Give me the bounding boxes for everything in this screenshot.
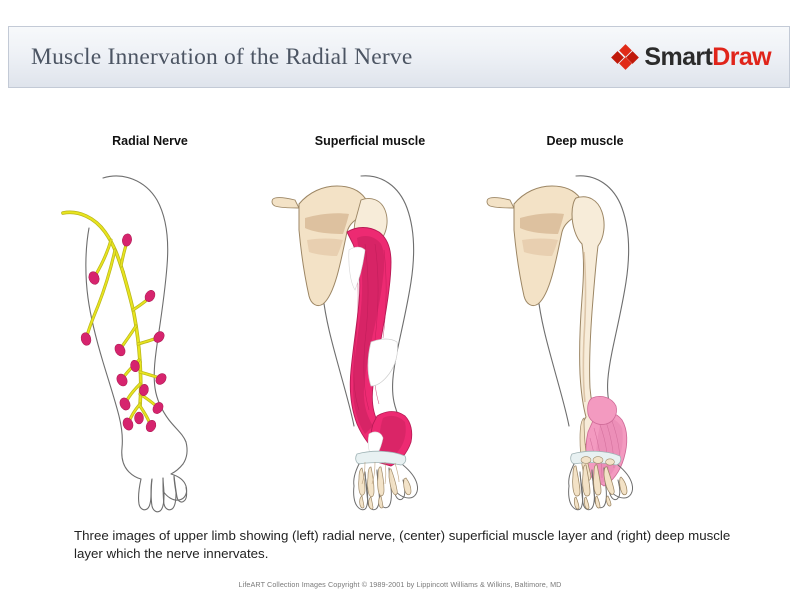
scapula-bone (487, 186, 582, 306)
radial-nerve-illustration (45, 166, 255, 516)
figure-superficial-muscle: Superficial muscle (265, 132, 475, 517)
figure-caption: Superficial muscle (265, 132, 475, 150)
wrist-retinaculum (356, 451, 406, 465)
scapula-bone (272, 186, 367, 306)
superficial-muscle-illustration (265, 166, 475, 516)
figure-deep-muscle: Deep muscle (480, 132, 690, 517)
smartdraw-logo[interactable]: SmartDraw (613, 45, 777, 70)
title-bar: Muscle Innervation of the Radial Nerve S… (8, 26, 790, 88)
brand-text-primary: Smart (644, 43, 712, 71)
figure-row: Radial Nerve (0, 132, 800, 517)
deep-muscle-illustration (480, 166, 690, 516)
figure-caption: Radial Nerve (45, 132, 255, 150)
figure-caption: Deep muscle (480, 132, 690, 150)
page-title: Muscle Innervation of the Radial Nerve (31, 44, 413, 71)
brand-wordmark: SmartDraw (644, 45, 771, 70)
copyright-notice: LifeART Collection Images Copyright © 19… (0, 580, 800, 589)
figure-radial-nerve: Radial Nerve (45, 132, 255, 517)
four-diamond-icon (613, 46, 637, 68)
brand-text-accent: Draw (712, 43, 771, 71)
superficial-muscle-mass (347, 228, 412, 467)
figure-description: Three images of upper limb showing (left… (74, 527, 734, 562)
